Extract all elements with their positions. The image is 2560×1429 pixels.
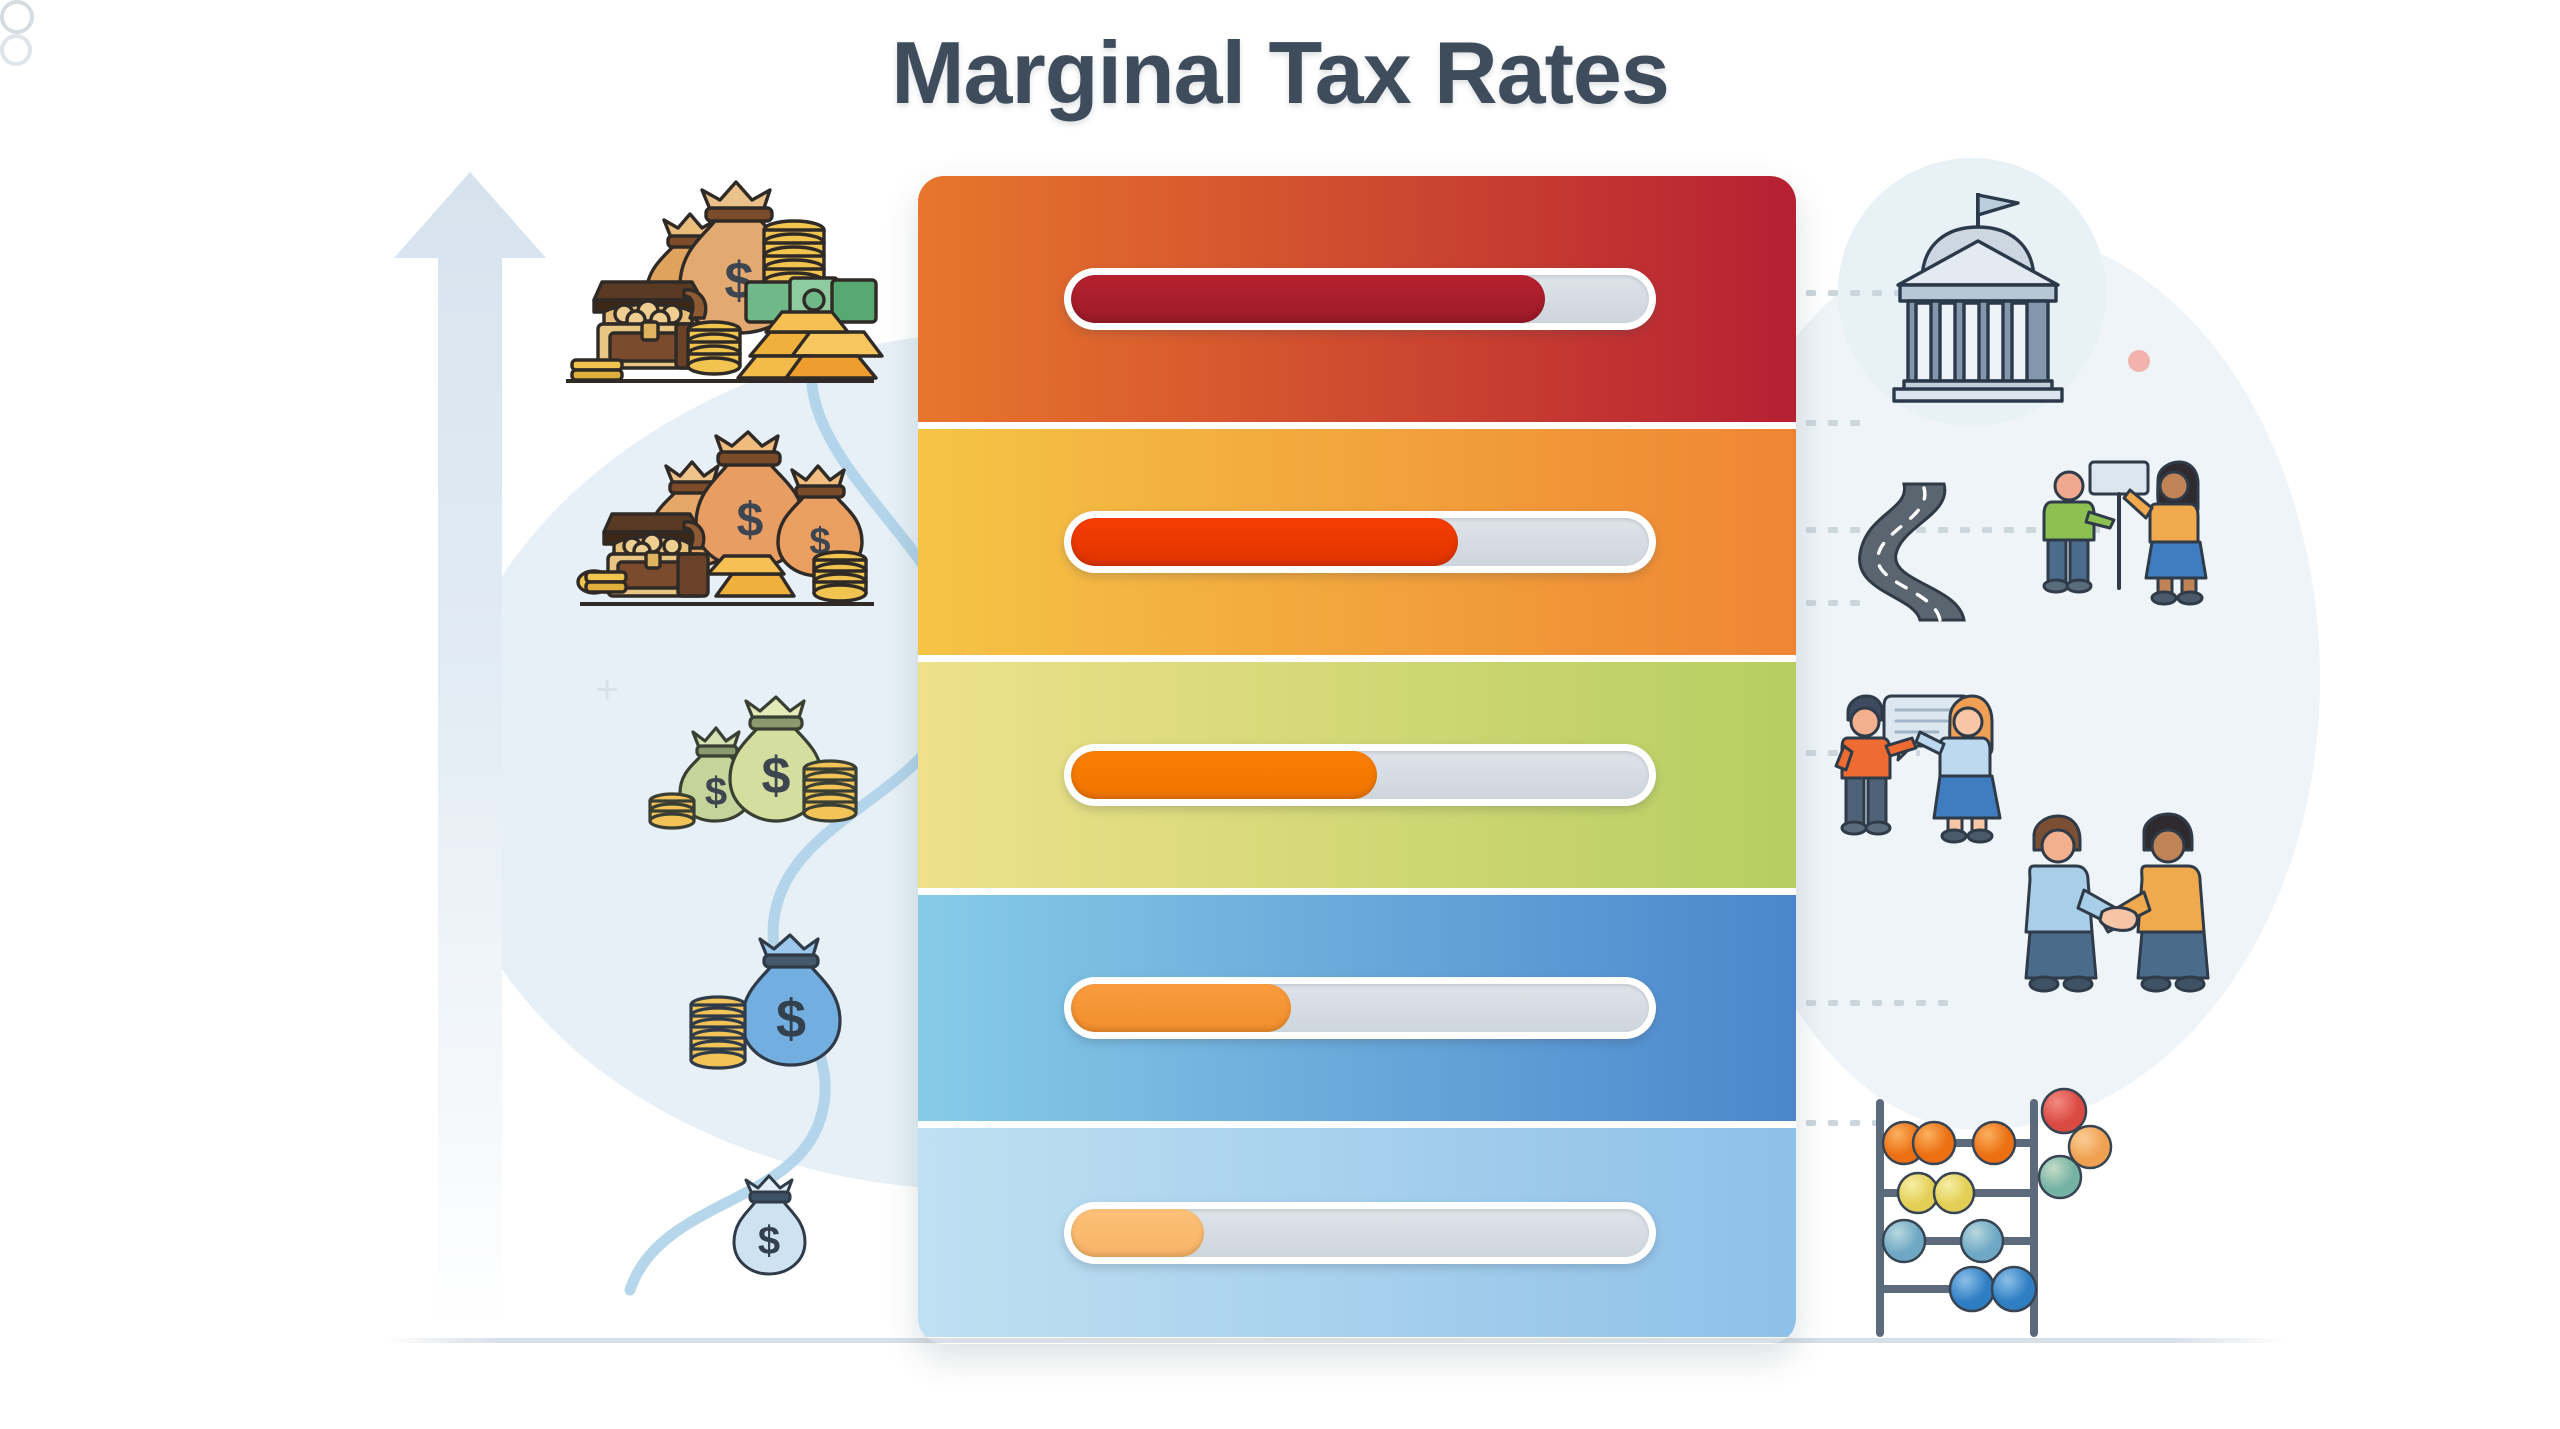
treasure-pile-medium-icon: $ $ xyxy=(578,432,878,622)
meter-track xyxy=(1071,984,1649,1032)
meter-fill xyxy=(1071,275,1545,323)
meter-fill xyxy=(1071,518,1458,566)
plus-marker-icon: + xyxy=(590,675,624,709)
tax-rate-meter-lowest[interactable] xyxy=(1064,1202,1656,1264)
tax-rate-meter-upper-middle[interactable] xyxy=(1064,511,1656,573)
red-dot-marker-icon xyxy=(2128,350,2150,372)
money-bag-blue-icon: $ xyxy=(690,955,850,1080)
svg-text:$: $ xyxy=(758,1219,780,1263)
winding-road-icon xyxy=(1848,480,1998,625)
meter-track xyxy=(1071,751,1649,799)
svg-text:$: $ xyxy=(705,770,727,814)
svg-text:$: $ xyxy=(776,989,806,1049)
protest-sign-people-icon xyxy=(2034,456,2214,606)
money-bag-small-icon: $ xyxy=(722,1192,812,1287)
tax-rate-meter-top[interactable] xyxy=(1064,268,1656,330)
tax-bracket-stack xyxy=(918,176,1796,1344)
connector-dots-bracket-4 xyxy=(1800,1000,1950,1006)
meter-track xyxy=(1071,275,1649,323)
bracket-row-lower-middle[interactable] xyxy=(918,888,1796,1121)
government-building-icon xyxy=(1878,185,2078,400)
tax-rate-meter-middle[interactable] xyxy=(1064,744,1656,806)
discussion-people-icon xyxy=(1838,690,2038,865)
meter-fill xyxy=(1071,751,1377,799)
meter-fill xyxy=(1071,1209,1204,1257)
meter-fill xyxy=(1071,984,1291,1032)
bracket-row-upper-middle[interactable] xyxy=(918,422,1796,655)
bracket-row-top[interactable] xyxy=(918,176,1796,422)
abacus-icon xyxy=(1862,1095,2122,1345)
money-bags-green-icon: $ $ xyxy=(650,705,860,845)
income-growth-arrow-icon xyxy=(390,170,550,1330)
bracket-row-middle[interactable] xyxy=(918,655,1796,888)
tax-rate-meter-lower-middle[interactable] xyxy=(1064,977,1656,1039)
connector-dots-bracket-1b xyxy=(1800,420,1860,426)
svg-text:$: $ xyxy=(762,747,791,805)
meter-track xyxy=(1071,1209,1649,1257)
meter-track xyxy=(1071,518,1649,566)
treasure-pile-large-icon: $ xyxy=(560,178,890,393)
infographic-canvas: + Marginal Tax Rates xyxy=(0,0,2560,1429)
bracket-row-lowest[interactable] xyxy=(918,1121,1796,1337)
svg-text:$: $ xyxy=(737,494,764,547)
handshake-people-icon xyxy=(2020,812,2220,1000)
page-title: Marginal Tax Rates xyxy=(0,22,2560,124)
